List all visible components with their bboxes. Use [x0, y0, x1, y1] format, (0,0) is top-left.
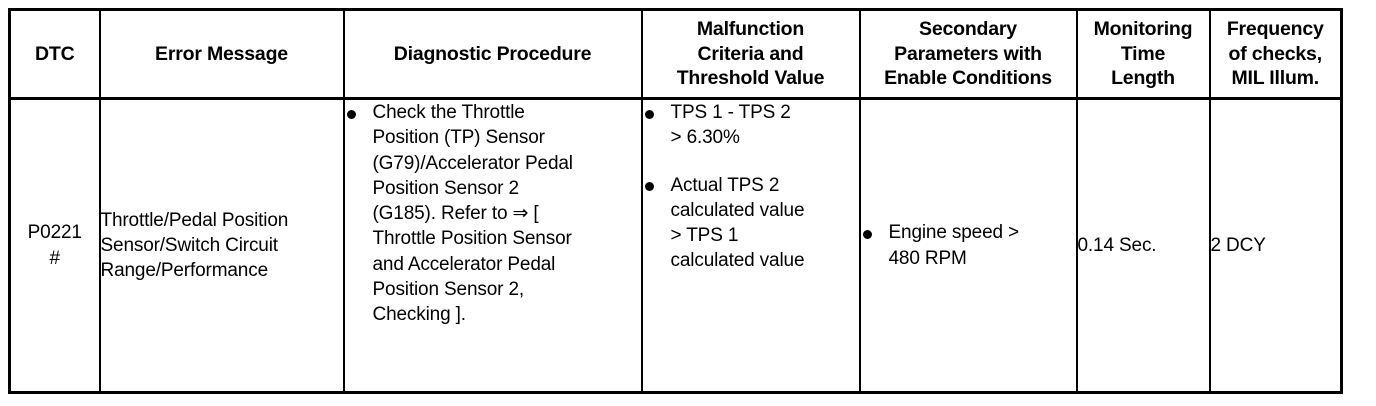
bullet-icon — [863, 230, 872, 239]
table-row: P0221 # Throttle/Pedal Position Sensor/S… — [10, 99, 1342, 393]
diagnostic-procedure-line-3: (G79)/Accelerator Pedal — [373, 151, 641, 176]
list-item: Actual TPS 2 calculated value > TPS 1 ca… — [643, 173, 859, 274]
malfunction-criteria-1-line-1: TPS 1 - TPS 2 — [671, 100, 859, 125]
diagnostic-procedure-line-7: and Accelerator Pedal — [373, 252, 641, 277]
cell-dtc: P0221 # — [10, 99, 100, 393]
cell-malfunction-criteria: TPS 1 - TPS 2 > 6.30% Actual TPS 2 calcu… — [642, 99, 860, 393]
cell-diagnostic-procedure: Check the Throttle Position (TP) Sensor … — [344, 99, 642, 393]
column-header-malfunction-criteria-line-2: Criteria and — [643, 42, 859, 67]
malfunction-criteria-item-1: TPS 1 - TPS 2 > 6.30% — [671, 100, 859, 151]
malfunction-criteria-item-2: Actual TPS 2 calculated value > TPS 1 ca… — [671, 173, 859, 274]
column-header-error-message-line-1: Error Message — [101, 42, 343, 67]
column-header-monitoring-time-line-1: Monitoring — [1078, 17, 1209, 42]
column-header-frequency-checks: Frequency of checks, MIL Illum. — [1210, 10, 1342, 99]
dtc-code: P0221 — [11, 220, 99, 245]
cell-secondary-parameters: Engine speed > 480 RPM — [860, 99, 1077, 393]
column-header-malfunction-criteria-line-3: Threshold Value — [643, 66, 859, 91]
column-header-diagnostic-procedure: Diagnostic Procedure — [344, 10, 642, 99]
list-item: TPS 1 - TPS 2 > 6.30% — [643, 100, 859, 151]
table-header: DTC Error Message Diagnostic Procedure M… — [10, 10, 1342, 99]
column-header-frequency-checks-line-2: of checks, — [1211, 42, 1341, 67]
diagnostic-procedure-text: Check the Throttle Position (TP) Sensor … — [373, 100, 641, 327]
list-item: Check the Throttle Position (TP) Sensor … — [345, 100, 641, 327]
column-header-frequency-checks-line-3: MIL Illum. — [1211, 66, 1341, 91]
header-row: DTC Error Message Diagnostic Procedure M… — [10, 10, 1342, 99]
malfunction-criteria-2-line-4: calculated value — [671, 248, 859, 273]
error-message-line-3: Range/Performance — [101, 258, 343, 283]
diagnostic-procedure-line-5: (G185). Refer to ⇒ [ — [373, 201, 641, 226]
secondary-parameters-line-1: Engine speed > — [889, 220, 1076, 245]
malfunction-criteria-2-line-3: > TPS 1 — [671, 223, 859, 248]
column-header-monitoring-time-line-3: Length — [1078, 66, 1209, 91]
secondary-parameters-text: Engine speed > 480 RPM — [889, 220, 1076, 271]
column-header-dtc: DTC — [10, 10, 100, 99]
error-message-line-1: Throttle/Pedal Position — [101, 208, 343, 233]
column-header-malfunction-criteria: Malfunction Criteria and Threshold Value — [642, 10, 860, 99]
column-header-malfunction-criteria-line-1: Malfunction — [643, 17, 859, 42]
diagnostic-procedure-line-8: Position Sensor 2, — [373, 277, 641, 302]
cell-error-message: Throttle/Pedal Position Sensor/Switch Ci… — [100, 99, 344, 393]
dtc-hash-marker: # — [11, 246, 99, 271]
secondary-parameters-bullet-list: Engine speed > 480 RPM — [861, 220, 1076, 271]
column-header-monitoring-time-line-2: Time — [1078, 42, 1209, 67]
column-header-dtc-line-1: DTC — [11, 42, 99, 67]
column-header-secondary-parameters-line-2: Parameters with — [861, 42, 1076, 67]
column-header-monitoring-time: Monitoring Time Length — [1077, 10, 1210, 99]
bullet-icon — [645, 110, 654, 119]
error-message-line-2: Sensor/Switch Circuit — [101, 233, 343, 258]
column-header-frequency-checks-line-1: Frequency — [1211, 17, 1341, 42]
table-body: P0221 # Throttle/Pedal Position Sensor/S… — [10, 99, 1342, 393]
diagnostic-procedure-bullet-list: Check the Throttle Position (TP) Sensor … — [345, 100, 641, 327]
column-header-secondary-parameters: Secondary Parameters with Enable Conditi… — [860, 10, 1077, 99]
secondary-parameters-line-2: 480 RPM — [889, 246, 1076, 271]
diagnostic-procedure-line-9: Checking ]. — [373, 302, 641, 327]
bullet-icon — [347, 110, 356, 119]
diagnostic-trouble-code-table: DTC Error Message Diagnostic Procedure M… — [8, 8, 1343, 394]
diagnostic-procedure-line-2: Position (TP) Sensor — [373, 125, 641, 150]
malfunction-criteria-1-line-2: > 6.30% — [671, 125, 859, 150]
malfunction-criteria-bullet-list: TPS 1 - TPS 2 > 6.30% Actual TPS 2 calcu… — [643, 100, 859, 274]
bullet-icon — [645, 182, 654, 191]
dtc-table-page: DTC Error Message Diagnostic Procedure M… — [0, 0, 1376, 406]
malfunction-criteria-2-line-1: Actual TPS 2 — [671, 173, 859, 198]
column-header-diagnostic-procedure-line-1: Diagnostic Procedure — [345, 42, 641, 67]
column-header-secondary-parameters-line-1: Secondary — [861, 17, 1076, 42]
malfunction-criteria-2-line-2: calculated value — [671, 198, 859, 223]
diagnostic-procedure-line-1: Check the Throttle — [373, 100, 641, 125]
list-item: Engine speed > 480 RPM — [861, 220, 1076, 271]
column-header-error-message: Error Message — [100, 10, 344, 99]
diagnostic-procedure-line-4: Position Sensor 2 — [373, 176, 641, 201]
cell-monitoring-time: 0.14 Sec. — [1077, 99, 1210, 393]
cell-frequency-checks: 2 DCY — [1210, 99, 1342, 393]
diagnostic-procedure-line-6: Throttle Position Sensor — [373, 226, 641, 251]
column-header-secondary-parameters-line-3: Enable Conditions — [861, 66, 1076, 91]
